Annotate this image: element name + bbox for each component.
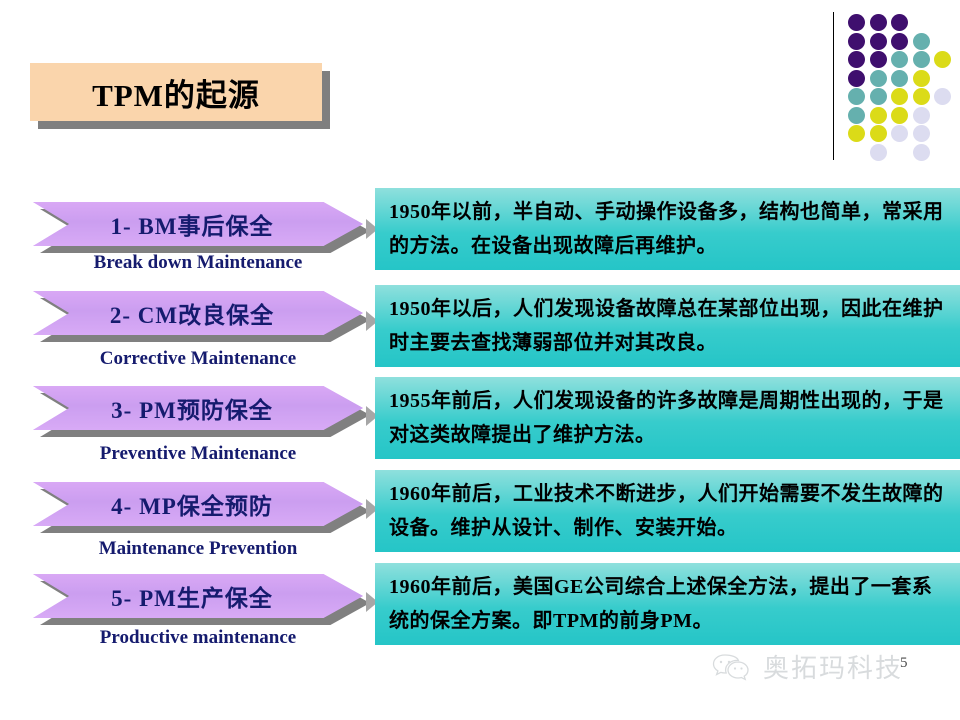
decor-dot bbox=[934, 88, 951, 105]
stage-arrow-label: 2- CM改良保全 bbox=[110, 296, 286, 330]
decor-dot bbox=[913, 51, 930, 68]
stage-subtitle: Maintenance Prevention bbox=[33, 538, 363, 560]
decor-dot bbox=[913, 33, 930, 50]
stage-arrow[interactable]: 3- PM预防保全 bbox=[33, 386, 363, 430]
decor-dot bbox=[870, 70, 887, 87]
decor-dot bbox=[848, 107, 865, 124]
title-text: TPM的起源 bbox=[92, 70, 260, 115]
stage-subtitle: Productive maintenance bbox=[33, 627, 363, 649]
decor-dot bbox=[848, 88, 865, 105]
stage-arrow-shape: 1- BM事后保全 bbox=[33, 202, 363, 246]
stage-description: 1955年前后，人们发现设备的许多故障是周期性出现的，于是对这类故障提出了维护方… bbox=[375, 377, 960, 459]
decor-dot bbox=[848, 14, 865, 31]
decor-dot bbox=[891, 51, 908, 68]
stage-description: 1950年以前，半自动、手动操作设备多，结构也简单，常采用的方法。在设备出现故障… bbox=[375, 188, 960, 270]
decor-dot bbox=[934, 51, 951, 68]
decor-dot bbox=[891, 33, 908, 50]
stage-description: 1960年前后，工业技术不断进步，人们开始需要不发生故障的设备。维护从设计、制作… bbox=[375, 470, 960, 552]
decor-dot bbox=[913, 70, 930, 87]
decor-dot bbox=[891, 125, 908, 142]
decor-dot bbox=[870, 88, 887, 105]
stage-arrow-label: 1- BM事后保全 bbox=[111, 207, 286, 241]
decor-dot bbox=[913, 88, 930, 105]
decor-dot bbox=[870, 14, 887, 31]
decor-dot bbox=[848, 70, 865, 87]
wechat-icon bbox=[712, 652, 754, 682]
decor-dot bbox=[870, 51, 887, 68]
stage-arrow-shape: 3- PM预防保全 bbox=[33, 386, 363, 430]
decor-dot bbox=[870, 33, 887, 50]
stage-arrow-label: 4- MP保全预防 bbox=[111, 487, 285, 521]
stage-arrow[interactable]: 1- BM事后保全 bbox=[33, 202, 363, 246]
decor-dot bbox=[870, 107, 887, 124]
stage-arrow[interactable]: 5- PM生产保全 bbox=[33, 574, 363, 618]
stage-subtitle: Preventive Maintenance bbox=[33, 443, 363, 465]
decor-dot bbox=[913, 107, 930, 124]
decor-dot bbox=[891, 14, 908, 31]
watermark-text: 奥拓玛科技 bbox=[763, 648, 903, 685]
stage-subtitle: Corrective Maintenance bbox=[33, 348, 363, 370]
decor-dot bbox=[891, 107, 908, 124]
vertical-rule bbox=[833, 12, 834, 160]
decor-dot bbox=[913, 144, 930, 161]
stage-arrow[interactable]: 4- MP保全预防 bbox=[33, 482, 363, 526]
decor-dot bbox=[848, 33, 865, 50]
decor-dot bbox=[913, 125, 930, 142]
decor-dot bbox=[891, 88, 908, 105]
title-box: TPM的起源 bbox=[30, 63, 322, 121]
stage-arrow-shape: 5- PM生产保全 bbox=[33, 574, 363, 618]
dot-grid bbox=[848, 14, 952, 162]
watermark: 奥拓玛科技 bbox=[712, 648, 903, 685]
slide-canvas: TPM的起源 1- BM事后保全Break down Maintenance19… bbox=[0, 0, 960, 720]
stage-description: 1950年以后，人们发现设备故障总在某部位出现，因此在维护时主要去查找薄弱部位并… bbox=[375, 285, 960, 367]
stage-arrow-label: 5- PM生产保全 bbox=[111, 579, 285, 613]
decor-dot bbox=[870, 125, 887, 142]
page-title: TPM的起源 bbox=[30, 63, 322, 121]
stage-arrow[interactable]: 2- CM改良保全 bbox=[33, 291, 363, 335]
stage-arrow-shape: 2- CM改良保全 bbox=[33, 291, 363, 335]
stage-description: 1960年前后，美国GE公司综合上述保全方法，提出了一套系统的保全方案。即TPM… bbox=[375, 563, 960, 645]
decor-dot bbox=[848, 51, 865, 68]
stage-subtitle: Break down Maintenance bbox=[33, 252, 363, 274]
stage-arrow-label: 3- PM预防保全 bbox=[111, 391, 285, 425]
page-number: 5 bbox=[900, 655, 908, 672]
decor-dot bbox=[891, 70, 908, 87]
stage-arrow-shape: 4- MP保全预防 bbox=[33, 482, 363, 526]
decor-dot bbox=[848, 125, 865, 142]
decor-dot bbox=[870, 144, 887, 161]
